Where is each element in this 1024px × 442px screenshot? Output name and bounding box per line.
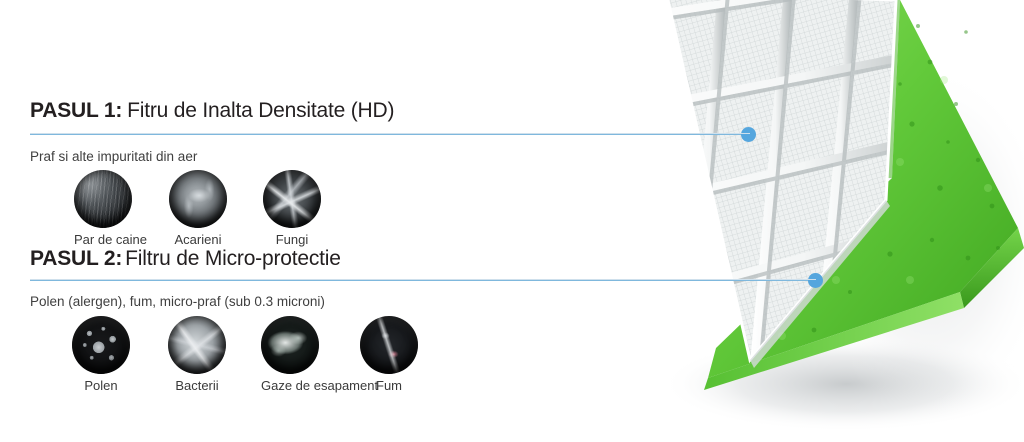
step-2-headline: Filtru de Micro-protectie xyxy=(125,247,341,270)
fungi-icon xyxy=(263,170,321,228)
step-1-rule xyxy=(30,133,750,134)
smoke-icon xyxy=(360,316,418,374)
contaminant-label: Polen xyxy=(72,379,130,392)
contaminant-bacteria: Bacterii xyxy=(168,316,226,392)
leader-dot-step-1 xyxy=(741,127,756,142)
contaminant-dog-hair: Par de caine xyxy=(74,170,132,246)
step-1-headline: Fitru de Inalta Densitate (HD) xyxy=(127,99,394,122)
step-2-kicker: PASUL 2: xyxy=(30,247,122,270)
contaminant-smoke: Fum xyxy=(360,316,418,392)
contaminant-label: Acarieni xyxy=(169,233,227,246)
step-1-block: PASUL 1:Fitru de Inalta Densitate (HD) P… xyxy=(30,100,394,121)
step-1-heading: PASUL 1:Fitru de Inalta Densitate (HD) xyxy=(30,100,394,121)
step-1-subtitle: Praf si alte impuritati din aer xyxy=(30,150,197,164)
step-2-heading: PASUL 2:Filtru de Micro-protectie xyxy=(30,248,341,269)
contaminant-fungi: Fungi xyxy=(263,170,321,246)
contaminant-label: Fum xyxy=(360,379,418,392)
filter-artwork xyxy=(600,0,1024,442)
bacteria-icon xyxy=(168,316,226,374)
dust-mite-icon xyxy=(169,170,227,228)
contaminant-pollen: Polen xyxy=(72,316,130,392)
contaminant-label: Bacterii xyxy=(168,379,226,392)
pollen-icon xyxy=(72,316,130,374)
leader-line-step-1 xyxy=(30,134,748,135)
step-2-subtitle: Polen (alergen), fum, micro-praf (sub 0.… xyxy=(30,295,325,309)
step-2-block: PASUL 2:Filtru de Micro-protectie Polen … xyxy=(30,248,341,269)
step-1-kicker: PASUL 1: xyxy=(30,99,122,122)
contaminant-label: Fungi xyxy=(263,233,321,246)
leader-dot-step-2 xyxy=(808,273,823,288)
leader-line-step-2 xyxy=(30,280,816,281)
contaminant-dust-mite: Acarieni xyxy=(169,170,227,246)
dog-hair-icon xyxy=(74,170,132,228)
air-filter-infographic: PASUL 1:Fitru de Inalta Densitate (HD) P… xyxy=(0,0,1024,442)
contaminant-label: Gaze de esapament xyxy=(261,379,319,392)
contaminant-label: Par de caine xyxy=(74,233,132,246)
exhaust-gas-icon xyxy=(261,316,319,374)
contaminant-exhaust-gas: Gaze de esapament xyxy=(261,316,319,392)
step-2-rule xyxy=(30,279,816,280)
